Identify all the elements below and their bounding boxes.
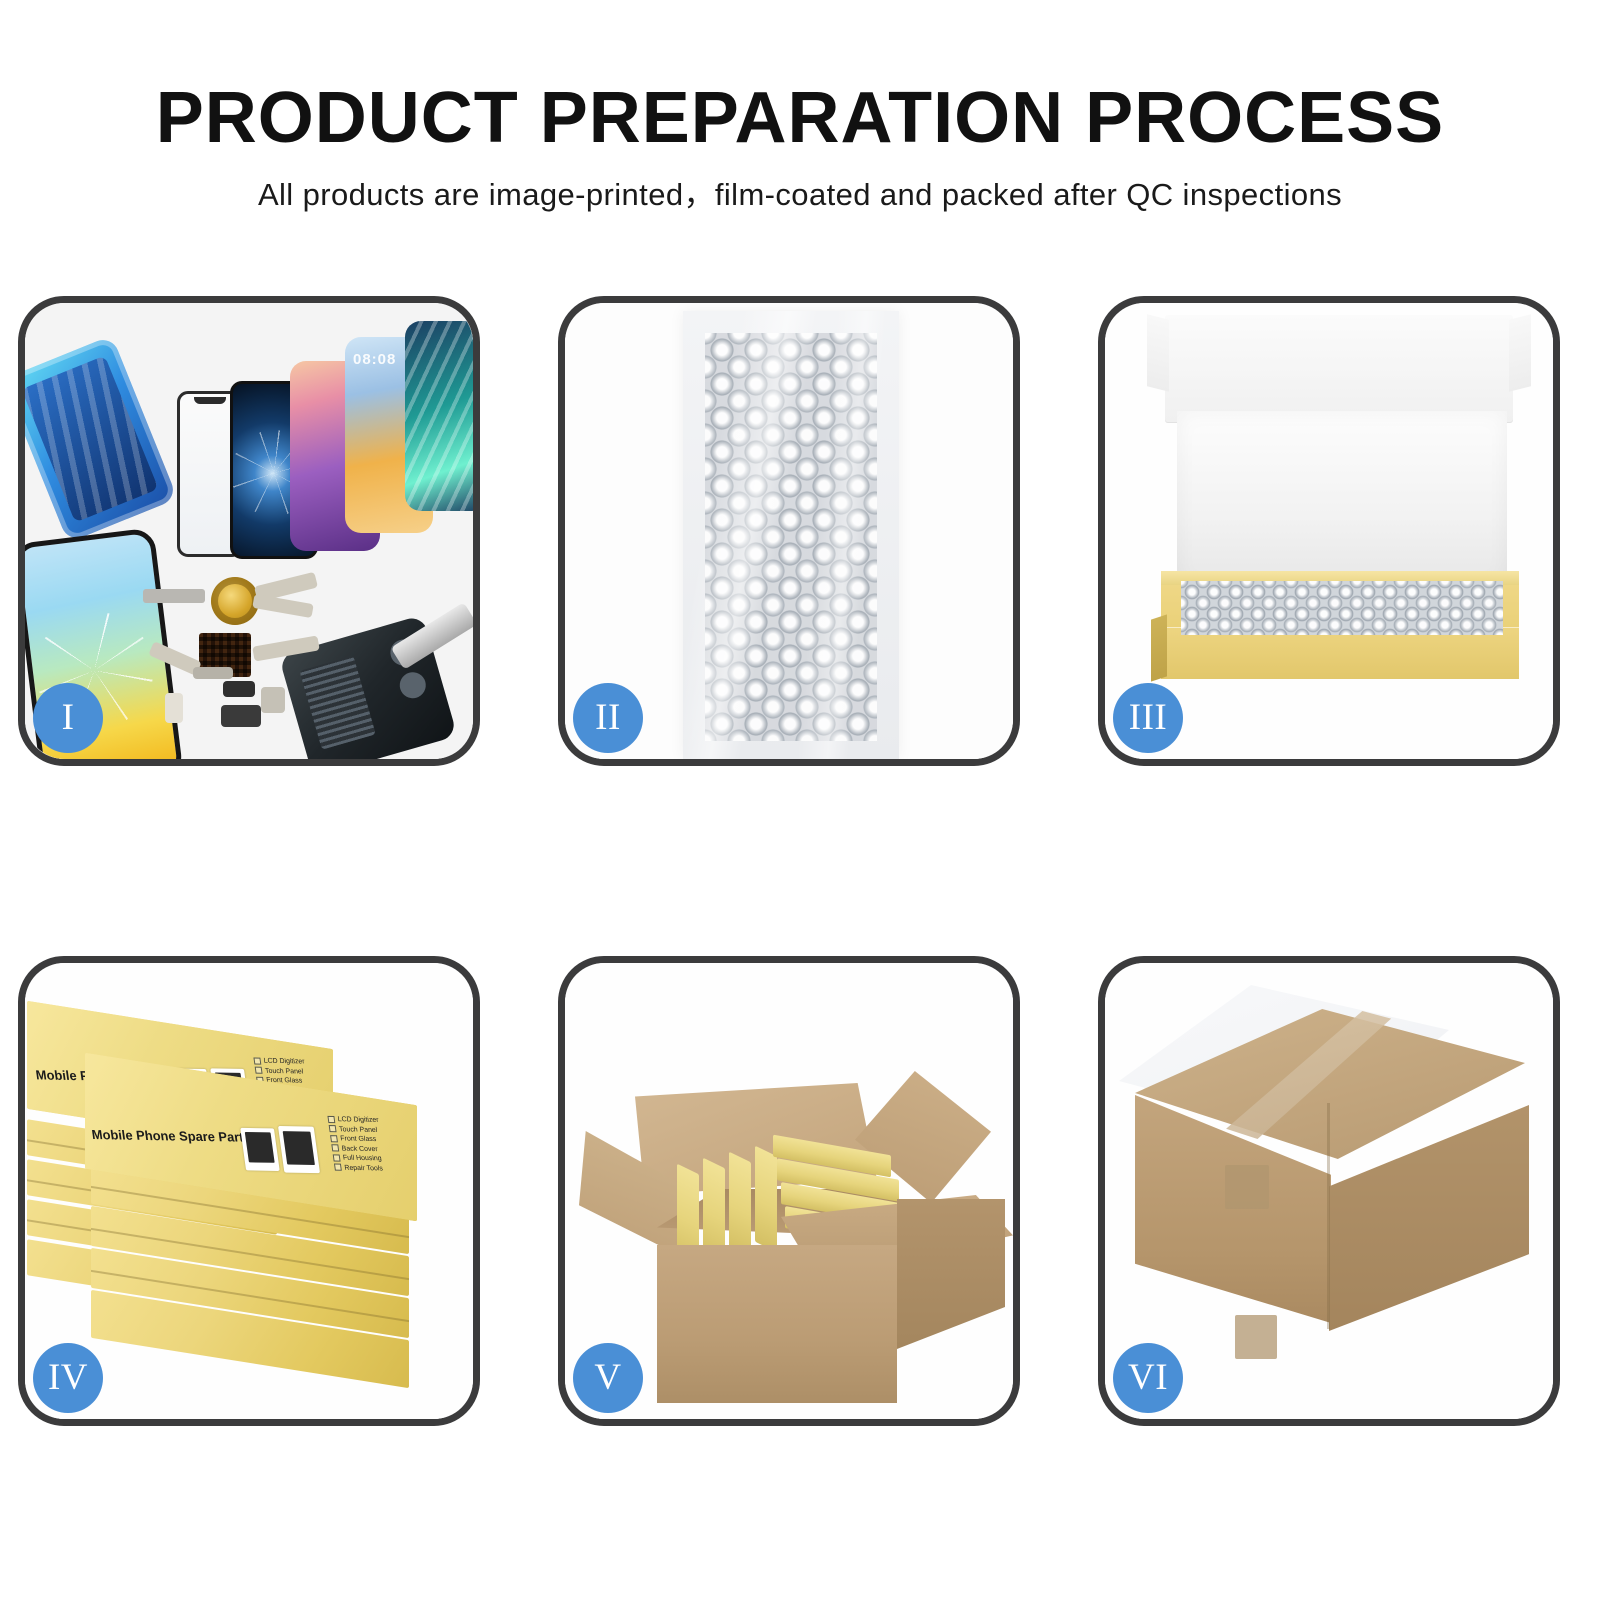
checklist-item: LCD Digitizer [327, 1115, 379, 1126]
checklist-item: Repair Tools [334, 1163, 386, 1174]
retail-box-product-photo-front-2 [278, 1126, 320, 1173]
carton-vertical-seam [1327, 1103, 1330, 1329]
phone-clock-label: 08:08 [353, 351, 396, 368]
retail-box-checklist-front: LCD Digitizer Touch Panel Front Glass Ba… [327, 1115, 386, 1174]
retail-box-product-photo-front-1 [240, 1128, 280, 1171]
spare-parts-scene: 08:08 [25, 303, 473, 759]
step-badge-1: I [33, 683, 103, 753]
step-3-image [1105, 303, 1553, 759]
process-step-grid: 08:08 [18, 296, 1590, 1466]
wireless-charging-coil [211, 577, 259, 625]
step-2-image [565, 303, 1013, 759]
step-1-image: 08:08 [25, 303, 473, 759]
camera-module-part [261, 687, 285, 713]
carton-front-face [657, 1245, 897, 1403]
step-5-image [565, 963, 1013, 1419]
checklist-item: LCD Digitizer [253, 1056, 305, 1067]
plastic-gloss-highlight [683, 311, 899, 759]
battery-connector-part [223, 681, 255, 697]
process-step-1[interactable]: 08:08 [18, 296, 480, 766]
retail-box-stack-scene: Mobile Phone Spare Parts LCD Digitizer T… [25, 963, 473, 1419]
bubble-wrap-sleeve [683, 311, 899, 759]
product-preparation-page: PRODUCT PREPARATION PROCESS All products… [0, 0, 1600, 1600]
mailer-box-left-end [1151, 614, 1167, 681]
teal-screen-phone [405, 321, 473, 511]
taptic-engine-part [221, 705, 261, 727]
flex-cable-part-2 [252, 594, 314, 618]
mailer-box-scene [1105, 303, 1553, 759]
packed-retail-box-4 [755, 1146, 777, 1253]
step-4-image: Mobile Phone Spare Parts LCD Digitizer T… [25, 963, 473, 1419]
phone-back-frame [25, 335, 178, 542]
carton-right-face [897, 1199, 1005, 1349]
foam-insert [1177, 411, 1507, 587]
retail-box-brand-front: Mobile Phone Spare Parts [91, 1127, 252, 1145]
step-badge-3: III [1113, 683, 1183, 753]
bubble-wrap-scene [565, 303, 1013, 759]
process-step-5[interactable]: V [558, 956, 1020, 1426]
checklist-item: Full Housing [333, 1153, 385, 1164]
sim-tray-part [165, 693, 183, 723]
screw-set-part [193, 667, 233, 679]
process-step-4[interactable]: Mobile Phone Spare Parts LCD Digitizer T… [18, 956, 480, 1426]
step-badge-6: VI [1113, 1343, 1183, 1413]
carton-tape-patch-bottom [1235, 1315, 1277, 1359]
carton-tape-patch-top [1225, 1165, 1269, 1209]
page-title: PRODUCT PREPARATION PROCESS [0, 0, 1600, 154]
process-step-3[interactable]: III [1098, 296, 1560, 766]
process-step-6[interactable]: VI [1098, 956, 1560, 1426]
page-subtitle: All products are image-printed，film-coat… [0, 154, 1600, 213]
step-badge-4: IV [33, 1343, 103, 1413]
process-step-2[interactable]: II [558, 296, 1020, 766]
step-badge-5: V [573, 1343, 643, 1413]
step-badge-2: II [573, 683, 643, 753]
checklist-item: Front Glass [330, 1134, 382, 1145]
sealed-carton-scene [1105, 963, 1553, 1419]
speaker-mesh-part [143, 589, 205, 603]
packed-retail-box-3 [729, 1152, 751, 1259]
carton-filling-scene [565, 963, 1013, 1419]
mailer-box-lid [1165, 315, 1513, 423]
bubble-wrapped-item [1181, 581, 1503, 635]
page-header: PRODUCT PREPARATION PROCESS All products… [0, 0, 1600, 213]
step-6-image [1105, 963, 1553, 1419]
